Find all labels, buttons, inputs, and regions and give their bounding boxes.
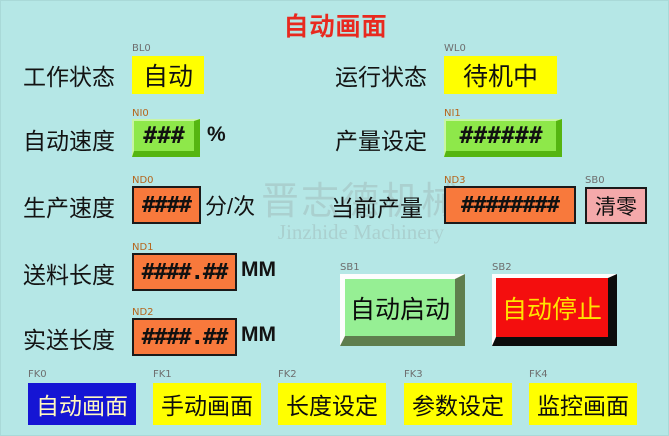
display-production-speed: #### — [132, 186, 201, 224]
tag-wl0: WL0 — [444, 43, 466, 54]
input-output-setting[interactable]: ###### — [444, 119, 562, 157]
unit-feed-length: MM — [241, 258, 276, 282]
reset-button[interactable]: 清零 — [585, 187, 647, 224]
unit-production-speed: 分/次 — [205, 189, 255, 221]
tag-sb1: SB1 — [340, 262, 360, 273]
field-run-status[interactable]: 待机中 — [444, 56, 557, 94]
tag-ni1: NI1 — [444, 108, 461, 119]
label-work-status: 工作状态 — [23, 58, 115, 92]
unit-auto-speed: % — [207, 123, 226, 147]
fkey-auto-screen[interactable]: 自动画面 — [28, 383, 136, 425]
hmi-screen: 晋志德机械 Jinzhide Machinery 自动画面 工作状态 BL0 自… — [0, 0, 669, 436]
auto-stop-button[interactable]: 自动停止 — [492, 274, 617, 346]
tag-nd2: ND2 — [132, 307, 154, 318]
label-actual-length: 实送长度 — [23, 321, 115, 355]
display-current-output: ######## — [444, 186, 576, 224]
tag-nd1: ND1 — [132, 242, 154, 253]
auto-start-button[interactable]: 自动启动 — [340, 274, 465, 346]
label-feed-length: 送料长度 — [23, 256, 115, 290]
tag-sb2: SB2 — [492, 262, 512, 273]
label-production-speed: 生产速度 — [23, 189, 115, 223]
tag-nd0: ND0 — [132, 175, 154, 186]
fkey-parameter-setting[interactable]: 参数设定 — [404, 383, 512, 425]
tag-fk1: FK1 — [153, 369, 172, 380]
fkey-monitor-screen[interactable]: 监控画面 — [529, 383, 637, 425]
tag-fk0: FK0 — [28, 369, 47, 380]
input-auto-speed[interactable]: ### — [132, 119, 200, 157]
label-output-setting: 产量设定 — [335, 122, 427, 156]
watermark-english: Jinzhide Machinery — [211, 221, 511, 243]
tag-fk3: FK3 — [404, 369, 423, 380]
tag-fk2: FK2 — [278, 369, 297, 380]
tag-nd3: ND3 — [444, 175, 466, 186]
tag-sb0: SB0 — [585, 175, 605, 186]
display-actual-length: ####.## — [132, 318, 237, 356]
unit-actual-length: MM — [241, 323, 276, 347]
fkey-length-setting[interactable]: 长度设定 — [278, 383, 386, 425]
tag-ni0: NI0 — [132, 108, 149, 119]
field-work-status[interactable]: 自动 — [132, 56, 204, 94]
label-run-status: 运行状态 — [335, 58, 427, 92]
label-auto-speed: 自动速度 — [23, 122, 115, 156]
tag-fk4: FK4 — [529, 369, 548, 380]
fkey-manual-screen[interactable]: 手动画面 — [153, 383, 261, 425]
display-feed-length: ####.## — [132, 253, 237, 291]
tag-bl0: BL0 — [132, 43, 151, 54]
page-title: 自动画面 — [1, 7, 669, 43]
label-current-output: 当前产量 — [331, 189, 423, 223]
